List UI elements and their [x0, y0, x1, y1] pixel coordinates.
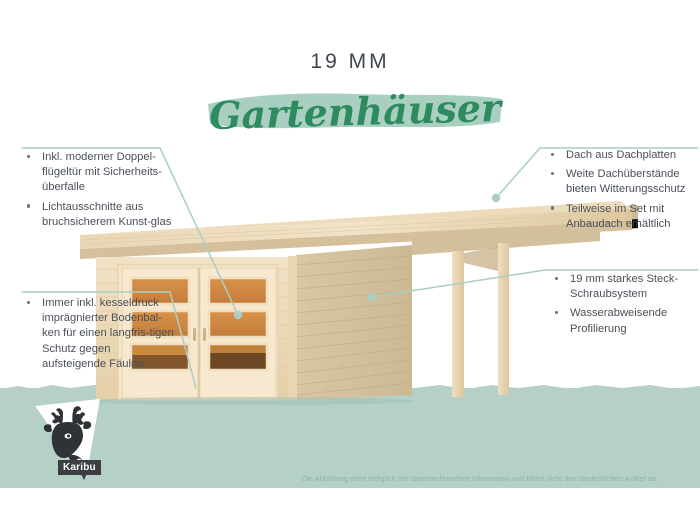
callout-door-features: Inkl. moderner Doppel-flügeltür mit Sich… — [25, 150, 175, 234]
callout-floor-beam-features: Immer inkl. kesseldruck imprägnierter Bo… — [25, 296, 177, 376]
callout-roof-features: Dach aus Dachplatten Weite Dachüberständ… — [549, 148, 699, 236]
callout-text: Dach aus Dachplatten — [566, 149, 676, 161]
bullet-icon — [27, 204, 30, 207]
callout-text: Immer inkl. kesseldruck imprägnierter Bo… — [42, 297, 174, 370]
list-item: Inkl. moderner Doppel-flügeltür mit Sich… — [25, 150, 175, 196]
callout-text: Weite Dachüberstände bieten Witterungssc… — [566, 168, 685, 195]
title-block: Gartenhäuser — [205, 86, 505, 138]
bullet-icon — [551, 206, 554, 209]
list-item: Dach aus Dachplatten — [549, 148, 699, 163]
bullet-icon — [555, 311, 558, 314]
list-item: Lichtausschnitte aus bruchsicherem Kunst… — [25, 200, 175, 230]
brand-logo: Karibu — [22, 398, 117, 486]
callout-text: Inkl. moderner Doppel-flügeltür mit Sich… — [42, 151, 162, 193]
list-item: Wasserabweisende Profilierung — [553, 306, 699, 336]
bullet-icon — [551, 153, 554, 156]
product-info-graphic: 19 MM Gartenhäuser — [0, 0, 700, 525]
callout-text: Wasserabweisende Profilierung — [570, 307, 667, 334]
brand-name: Karibu — [58, 460, 101, 475]
bullet-icon — [551, 172, 554, 175]
list-item: 19 mm starkes Steck-Schraubsystem — [553, 272, 699, 302]
page-title: Gartenhäuser — [204, 82, 505, 142]
disclaimer-text: Die Abbildung dient lediglich der datent… — [270, 474, 690, 483]
list-item: Immer inkl. kesseldruck imprägnierter Bo… — [25, 296, 177, 372]
callout-wall-system-features: 19 mm starkes Steck-Schraubsystem Wasser… — [553, 272, 699, 341]
callout-text: 19 mm starkes Steck-Schraubsystem — [570, 273, 678, 300]
bullet-icon — [27, 301, 30, 304]
list-item: Teilweise im Set mit Anbaudach erhältlic… — [549, 202, 699, 232]
bullet-icon — [27, 155, 30, 158]
bullet-icon — [555, 277, 558, 280]
callout-text: Lichtausschnitte aus bruchsicherem Kunst… — [42, 201, 171, 228]
callout-text: Teilweise im Set mit Anbaudach erhältlic… — [566, 203, 671, 230]
list-item: Weite Dachüberstände bieten Witterungssc… — [549, 167, 699, 197]
thickness-kicker: 19 MM — [0, 50, 700, 74]
